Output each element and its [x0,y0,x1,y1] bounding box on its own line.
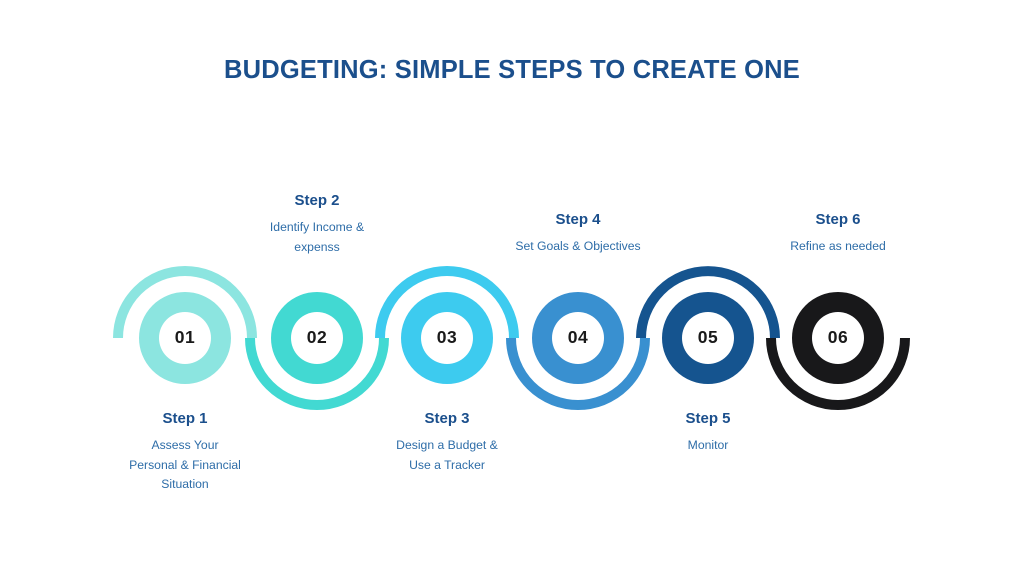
step-title-text: Step 3 [332,410,562,429]
step-description-text: Refine as needed [723,237,953,257]
step-number-disc-04: 04 [552,312,604,364]
step-title-text: Step 4 [463,211,693,230]
step-title-text: Step 1 [70,410,300,429]
step-number-text: 04 [568,329,588,347]
step-description-text: Set Goals & Objectives [463,237,693,257]
step-number-text: 01 [175,329,195,347]
step-description-text: Monitor [593,436,823,456]
step-label-04: Step 4Set Goals & Objectives [463,211,693,257]
step-title-text: Step 5 [593,410,823,429]
step-number-disc-01: 01 [159,312,211,364]
step-label-05: Step 5Monitor [593,410,823,456]
step-node-04[interactable]: 04 [532,292,624,384]
step-number-text: 02 [307,329,327,347]
step-label-06: Step 6Refine as needed [723,211,953,257]
step-node-05[interactable]: 05 [662,292,754,384]
step-label-03: Step 3Design a Budget & Use a Tracker [332,410,562,475]
step-description-text: Assess Your Personal & Financial Situati… [70,436,300,495]
step-node-06[interactable]: 06 [792,292,884,384]
step-title-text: Step 6 [723,211,953,230]
step-title-text: Step 2 [202,192,432,211]
step-node-01[interactable]: 01 [139,292,231,384]
step-number-text: 05 [698,329,718,347]
step-number-disc-02: 02 [291,312,343,364]
step-number-text: 06 [828,329,848,347]
step-label-01: Step 1Assess Your Personal & Financial S… [70,410,300,495]
step-number-text: 03 [437,329,457,347]
step-node-03[interactable]: 03 [401,292,493,384]
wave-arcs-group [118,271,905,405]
step-description-text: Identify Income & expenss [202,218,432,258]
step-number-disc-06: 06 [812,312,864,364]
step-number-disc-03: 03 [421,312,473,364]
step-description-text: Design a Budget & Use a Tracker [332,436,562,476]
step-number-disc-05: 05 [682,312,734,364]
step-node-02[interactable]: 02 [271,292,363,384]
infographic-canvas: BUDGETING: SIMPLE STEPS TO CREATE ONE 01… [0,0,1024,576]
step-label-02: Step 2Identify Income & expenss [202,192,432,257]
